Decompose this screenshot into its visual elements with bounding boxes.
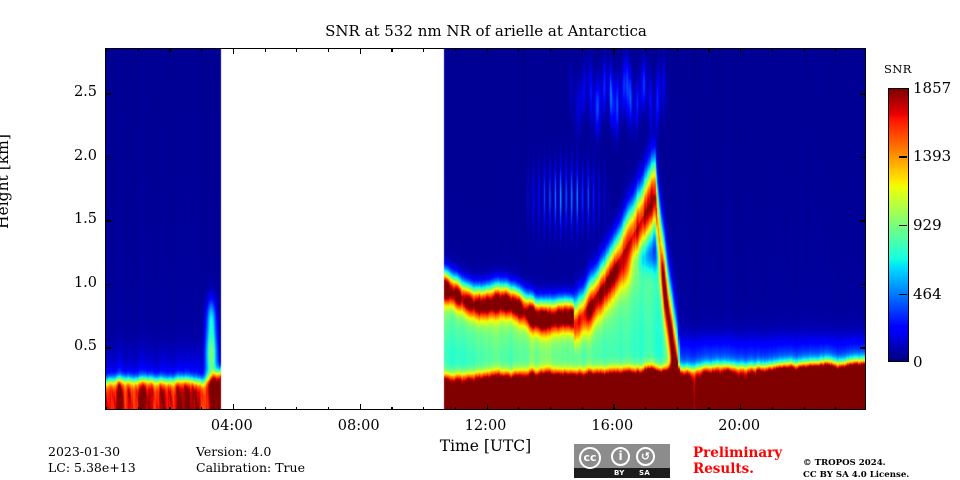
x-tick bbox=[487, 404, 488, 410]
footer-calibration: Calibration: True bbox=[196, 460, 305, 475]
x-minor-tick-top bbox=[296, 48, 297, 52]
x-minor-tick bbox=[677, 407, 678, 411]
colorbar-tick-label: 0 bbox=[913, 353, 923, 371]
x-minor-tick-top bbox=[582, 48, 583, 52]
y-tick-right bbox=[860, 157, 866, 158]
x-minor-tick-top bbox=[169, 48, 170, 52]
x-tick-label: 08:00 bbox=[338, 418, 380, 434]
x-minor-tick bbox=[201, 407, 202, 411]
cc-logo-icon: cc bbox=[579, 447, 601, 469]
preliminary-line-2: Results. bbox=[693, 462, 782, 478]
y-tick-right bbox=[860, 284, 866, 285]
x-minor-tick bbox=[835, 407, 836, 411]
footer-date: 2023-01-30 bbox=[48, 444, 120, 459]
x-minor-tick-top bbox=[772, 48, 773, 52]
x-minor-tick bbox=[708, 407, 709, 411]
x-minor-tick-top bbox=[518, 48, 519, 52]
y-tick-label: 0.5 bbox=[51, 338, 97, 354]
preliminary-line-1: Preliminary bbox=[693, 446, 782, 462]
y-tick-label: 2.0 bbox=[51, 148, 97, 164]
x-minor-tick bbox=[804, 407, 805, 411]
colorbar-tick bbox=[899, 156, 907, 157]
x-minor-tick bbox=[423, 407, 424, 411]
x-minor-tick bbox=[106, 407, 107, 411]
x-tick-top bbox=[233, 48, 234, 54]
y-tick bbox=[105, 220, 111, 221]
colorbar-tick bbox=[899, 88, 907, 89]
colorbar-tick bbox=[899, 294, 907, 295]
x-minor-tick bbox=[328, 407, 329, 411]
x-tick-label: 20:00 bbox=[718, 418, 760, 434]
x-minor-tick bbox=[391, 407, 392, 411]
x-minor-tick-top bbox=[265, 48, 266, 52]
x-tick bbox=[233, 404, 234, 410]
x-minor-tick-top bbox=[677, 48, 678, 52]
y-tick bbox=[105, 157, 111, 158]
x-minor-tick-top bbox=[645, 48, 646, 52]
cc-sa-icon: ↺ bbox=[636, 447, 655, 466]
x-minor-tick bbox=[772, 407, 773, 411]
y-tick bbox=[105, 284, 111, 285]
y-tick-label: 1.5 bbox=[51, 211, 97, 227]
cc-by-icon: i bbox=[611, 447, 630, 466]
x-minor-tick-top bbox=[391, 48, 392, 52]
colorbar-tick-label: 929 bbox=[913, 216, 942, 234]
x-minor-tick-top bbox=[106, 48, 107, 52]
footer-lidar-constant: LC: 5.38e+13 bbox=[48, 460, 136, 475]
x-tick bbox=[740, 404, 741, 410]
y-axis-label: Height [km] bbox=[0, 134, 12, 229]
colorbar-label: SNR bbox=[884, 62, 912, 76]
x-minor-tick bbox=[582, 407, 583, 411]
x-minor-tick-top bbox=[804, 48, 805, 52]
x-minor-tick bbox=[169, 407, 170, 411]
cc-sa-label: SA bbox=[639, 469, 650, 477]
x-minor-tick bbox=[265, 407, 266, 411]
x-minor-tick bbox=[518, 407, 519, 411]
colorbar-tick-label: 1393 bbox=[913, 147, 951, 165]
copyright-note: © TROPOS 2024. CC BY SA 4.0 License. bbox=[803, 458, 909, 480]
page-title: SNR at 532 nm NR of arielle at Antarctic… bbox=[105, 22, 867, 40]
x-minor-tick-top bbox=[708, 48, 709, 52]
x-minor-tick bbox=[296, 407, 297, 411]
snr-heatmap[interactable] bbox=[106, 49, 866, 410]
x-minor-tick-top bbox=[328, 48, 329, 52]
x-tick-label: 04:00 bbox=[211, 418, 253, 434]
x-minor-tick-top bbox=[835, 48, 836, 52]
heatmap-axes[interactable] bbox=[105, 48, 866, 410]
x-tick-top bbox=[360, 48, 361, 54]
y-tick-label: 1.0 bbox=[51, 275, 97, 291]
copyright-line-1: © TROPOS 2024. bbox=[803, 458, 909, 470]
x-minor-tick-top bbox=[550, 48, 551, 52]
colorbar-tick bbox=[899, 225, 907, 226]
x-minor-tick bbox=[645, 407, 646, 411]
lidar-quicklook-figure: SNR at 532 nm NR of arielle at Antarctic… bbox=[0, 0, 960, 480]
y-tick-right bbox=[860, 347, 866, 348]
x-minor-tick-top bbox=[423, 48, 424, 52]
x-tick-label: 12:00 bbox=[465, 418, 507, 434]
preliminary-results-note: Preliminary Results. bbox=[693, 446, 782, 478]
x-tick bbox=[613, 404, 614, 410]
cc-license-badge-icon: cc i ↺ BY SA bbox=[574, 444, 670, 478]
colorbar[interactable] bbox=[888, 88, 909, 362]
x-minor-tick bbox=[550, 407, 551, 411]
x-tick-label: 16:00 bbox=[591, 418, 633, 434]
colorbar-tick-label: 464 bbox=[913, 285, 942, 303]
x-tick-top bbox=[740, 48, 741, 54]
x-minor-tick-top bbox=[201, 48, 202, 52]
x-tick bbox=[360, 404, 361, 410]
x-tick-top bbox=[613, 48, 614, 54]
copyright-line-2: CC BY SA 4.0 License. bbox=[803, 470, 909, 480]
x-minor-tick bbox=[138, 407, 139, 411]
x-minor-tick-top bbox=[455, 48, 456, 52]
y-tick bbox=[105, 93, 111, 94]
x-tick-top bbox=[487, 48, 488, 54]
y-tick bbox=[105, 347, 111, 348]
cc-by-label: BY bbox=[614, 469, 625, 477]
colorbar-tick-label: 1857 bbox=[913, 79, 951, 97]
footer-version: Version: 4.0 bbox=[196, 444, 271, 459]
colorbar-tick bbox=[899, 361, 907, 362]
y-tick-right bbox=[860, 220, 866, 221]
y-tick-right bbox=[860, 93, 866, 94]
x-minor-tick-top bbox=[138, 48, 139, 52]
x-minor-tick bbox=[455, 407, 456, 411]
y-tick-label: 2.5 bbox=[51, 84, 97, 100]
